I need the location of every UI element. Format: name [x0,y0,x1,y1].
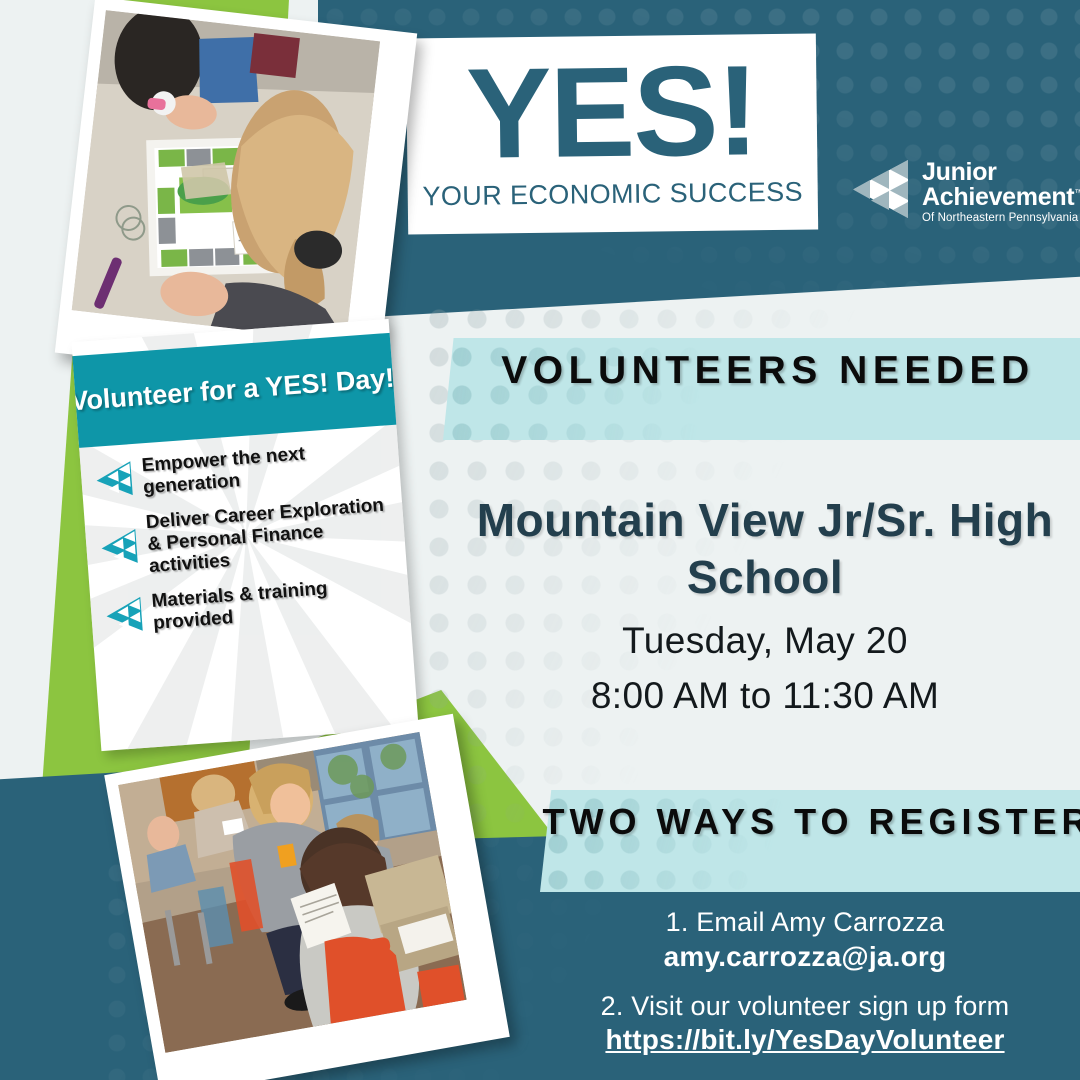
ja-logo-line1: Junior [922,160,1080,185]
register-signup-link[interactable]: https://bit.ly/YesDayVolunteer [520,1024,1080,1056]
trademark-symbol: ™ [1074,188,1080,198]
ja-logo-line2: Achievement™ [922,185,1080,210]
volunteer-info-card: Volunteer for a YES! Day! Empower t [71,319,418,751]
yes-logo-word: YES! [466,57,758,171]
event-datetime: Tuesday, May 20 8:00 AM to 11:30 AM [445,614,1080,724]
card-bullet-list: Empower the next generation Deliver Car [92,437,405,652]
register-option-1-label: 1. Email Amy Carrozza [520,905,1080,941]
register-heading: TWO WAYS TO REGISTER [540,800,1080,843]
poster-canvas: YES! YOUR ECONOMIC SUCCESS Junior [0,0,1080,1080]
ja-triangle-icon [852,158,910,220]
list-item: Materials & training provided [102,573,404,638]
list-item: Deliver Career Exploration & Personal Fi… [96,494,400,581]
ja-triangle-icon [92,458,135,501]
list-item-label: Materials & training provided [151,573,404,635]
photo-volunteer-helping-students-classroom [104,714,510,1080]
ja-triangle-icon [97,526,140,569]
list-item-label: Deliver Career Exploration & Personal Fi… [145,494,400,577]
register-option-2-label: 2. Visit our volunteer sign up form [520,989,1080,1025]
ja-logo-text: Junior Achievement™ Of Northeastern Penn… [922,158,1080,225]
page-title: VOLUNTEERS NEEDED [443,348,1080,394]
junior-achievement-logo: Junior Achievement™ Of Northeastern Penn… [852,158,1080,225]
event-time: 8:00 AM to 11:30 AM [445,669,1080,724]
event-date: Tuesday, May 20 [445,614,1080,669]
ja-triangle-icon [102,594,145,637]
register-email-address[interactable]: amy.carrozza@ja.org [520,941,1080,973]
spacer [520,973,1080,989]
yes-logo: YES! YOUR ECONOMIC SUCCESS [406,34,818,235]
school-name: Mountain View Jr/Sr. High School [445,492,1080,606]
yes-logo-tagline: YOUR ECONOMIC SUCCESS [422,176,803,212]
card-header-text: Volunteer for a YES! Day! [71,363,395,418]
registration-options: 1. Email Amy Carrozza amy.carrozza@ja.or… [520,905,1080,1056]
ja-logo-line3: Of Northeastern Pennsylvania [922,213,1080,225]
